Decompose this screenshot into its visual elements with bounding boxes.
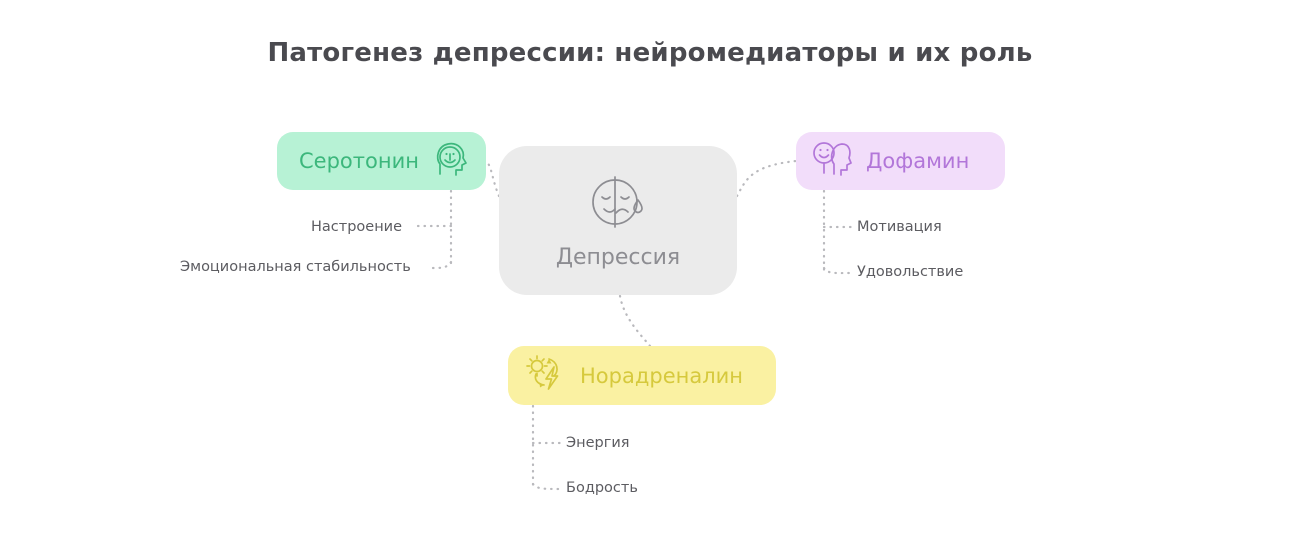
node-noradrenaline-label: Норадреналин: [580, 364, 743, 388]
node-dopamine-label: Дофамин: [866, 149, 969, 173]
leaf-energy: Энергия: [566, 435, 630, 451]
head-face-icon: [434, 141, 468, 181]
sad-happy-face-icon: [585, 171, 651, 237]
node-depression-label: Депрессия: [556, 245, 680, 270]
node-serotonin[interactable]: Серотонин: [277, 132, 486, 190]
page-title: Патогенез депрессии: нейромедиаторы и их…: [0, 38, 1300, 68]
leaf-emotional-stability: Эмоциональная стабильность: [180, 259, 411, 275]
leaf-motivation: Мотивация: [857, 219, 942, 235]
mindmap-canvas: Патогенез депрессии: нейромедиаторы и их…: [0, 0, 1300, 546]
leaf-vigor: Бодрость: [566, 480, 638, 496]
connector-dopamine-pleasure: [824, 268, 852, 273]
connector-serotonin-emotional: [432, 262, 451, 268]
node-dopamine[interactable]: Дофамин: [796, 132, 1005, 190]
sun-lightning-icon: [524, 353, 568, 399]
leaf-mood: Настроение: [311, 219, 402, 235]
connector-noradrenaline-vigor: [533, 484, 561, 489]
node-noradrenaline[interactable]: Норадреналин: [508, 346, 776, 405]
node-depression[interactable]: Депрессия: [499, 146, 737, 295]
connector-center-serotonin: [486, 161, 499, 196]
connector-center-dopamine: [737, 161, 796, 196]
connector-center-noradrenaline: [620, 296, 650, 346]
head-smiley-icon: [812, 140, 852, 182]
node-serotonin-label: Серотонин: [299, 149, 419, 173]
leaf-pleasure: Удовольствие: [857, 264, 963, 280]
